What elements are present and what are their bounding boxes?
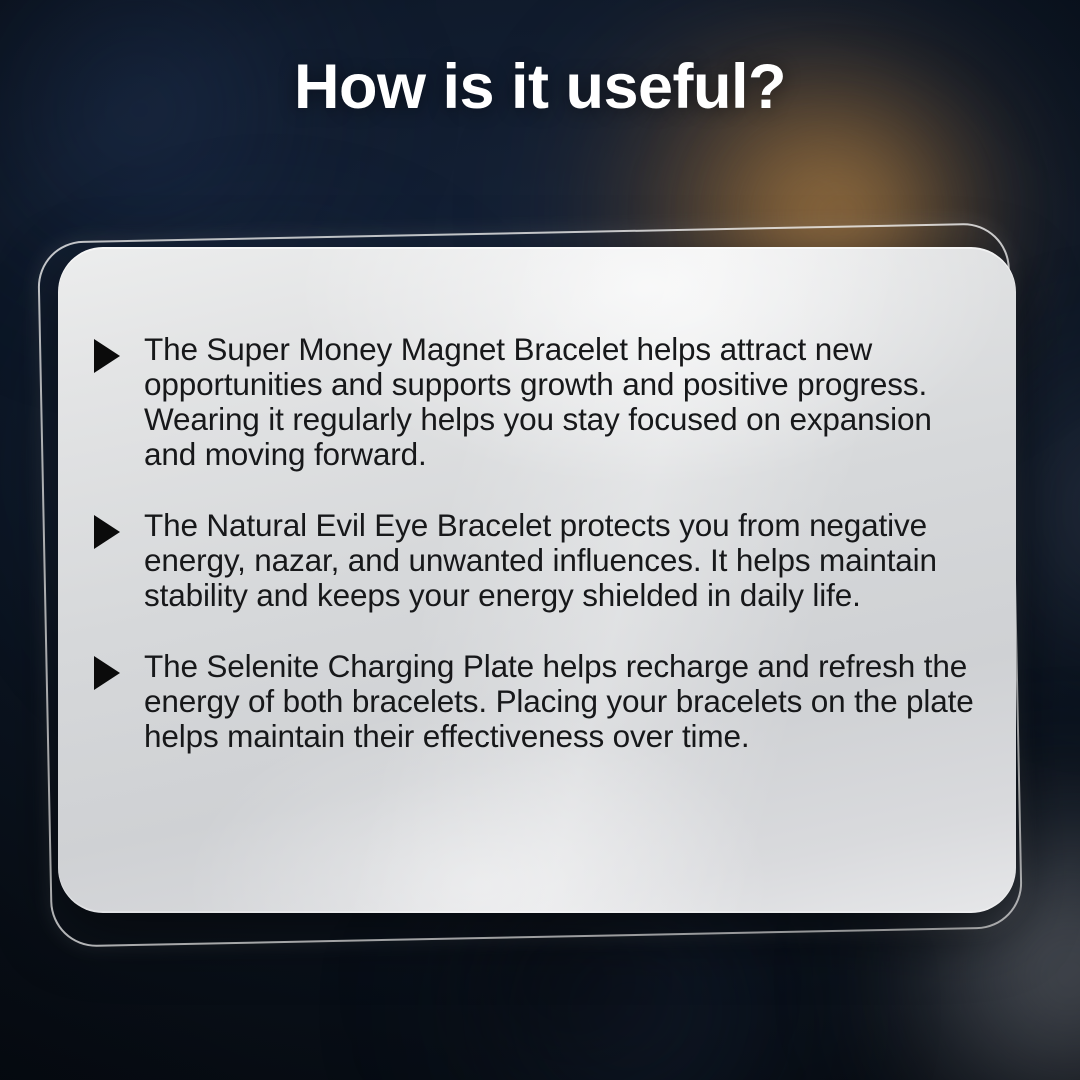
page-title: How is it useful? [0,54,1080,120]
slide-canvas: How is it useful? The Super Money Magnet… [0,0,1080,1080]
triangle-right-icon [94,339,120,373]
triangle-right-icon [94,515,120,549]
list-item-text: The Super Money Magnet Bracelet helps at… [144,332,980,472]
list-item: The Selenite Charging Plate helps rechar… [94,649,980,754]
list-item: The Natural Evil Eye Bracelet protects y… [94,508,980,613]
list-item-text: The Selenite Charging Plate helps rechar… [144,649,980,754]
triangle-right-icon [94,656,120,690]
benefits-list: The Super Money Magnet Bracelet helps at… [94,332,980,754]
list-item: The Super Money Magnet Bracelet helps at… [94,332,980,472]
list-item-text: The Natural Evil Eye Bracelet protects y… [144,508,980,613]
